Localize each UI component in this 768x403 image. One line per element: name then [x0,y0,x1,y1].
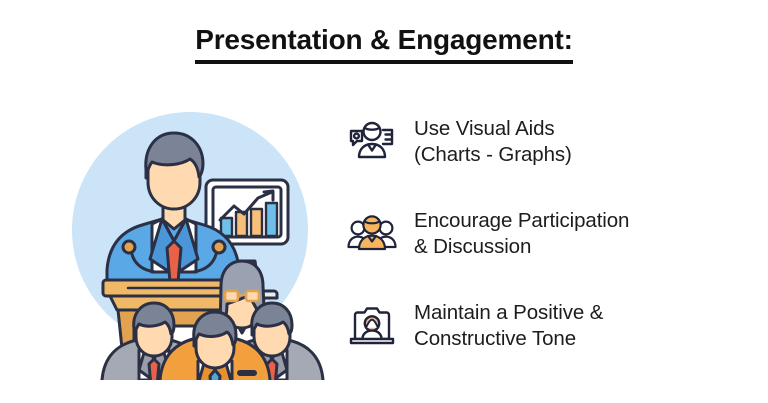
group-of-people-icon [344,206,400,262]
chart-bar-2 [236,212,247,236]
page-title: Presentation & Engagement: [195,24,573,64]
laptop-video-call-icon [344,298,400,354]
speaker-at-podium-with-audience-illustration [62,88,330,380]
bullet-text-visual-aids: Use Visual Aids (Charts - Graphs) [414,116,572,168]
presenter-with-speech-bubble-icon [344,114,400,170]
bullet-item-visual-aids: Use Visual Aids (Charts - Graphs) [344,96,764,188]
chart-bar-4 [266,203,277,236]
bullet-text-encourage-participation: Encourage Participation & Discussion [414,208,629,260]
chart-bar-3 [251,209,262,236]
bullet-line-1: Use Visual Aids [414,116,572,142]
title-block: Presentation & Engagement: [0,24,768,64]
bullet-item-encourage-participation: Encourage Participation & Discussion [344,188,764,280]
bullet-line-1: Maintain a Positive & [414,300,603,326]
slide-canvas: Presentation & Engagement: [0,0,768,403]
bullet-line-2: & Discussion [414,234,629,260]
bullet-item-positive-tone: Maintain a Positive & Constructive Tone [344,280,764,372]
bullet-line-2: Constructive Tone [414,326,603,352]
bullet-line-1: Encourage Participation [414,208,629,234]
bullet-line-2: (Charts - Graphs) [414,142,572,168]
bullet-list: Use Visual Aids (Charts - Graphs) [344,96,764,372]
bullet-text-positive-tone: Maintain a Positive & Constructive Tone [414,300,603,352]
